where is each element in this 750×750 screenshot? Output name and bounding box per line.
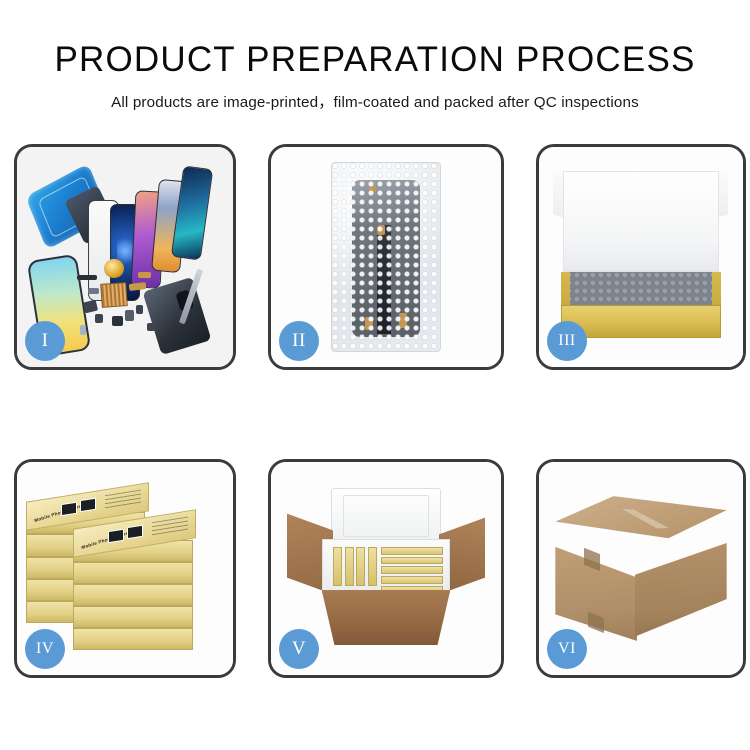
spare-part-icon <box>125 310 134 321</box>
step-panel-3: III <box>536 144 746 370</box>
step-badge-4: IV <box>25 629 65 669</box>
page-title: PRODUCT PREPARATION PROCESS <box>0 42 750 77</box>
speaker-coil-icon <box>104 259 123 278</box>
spare-part-icon <box>136 305 144 314</box>
step-panel-1: I <box>14 144 236 370</box>
step-panel-2: II <box>268 144 504 370</box>
page-subtitle: All products are image-printed，film-coat… <box>0 90 750 112</box>
step-panel-6: VI <box>536 459 746 678</box>
spare-part-icon <box>83 300 98 314</box>
spare-part-icon <box>80 325 86 335</box>
header: PRODUCT PREPARATION PROCESS All products… <box>0 0 750 112</box>
spare-part-icon <box>88 288 99 295</box>
box-spec-lines-icon <box>152 516 188 537</box>
step-badge-5: V <box>279 629 319 669</box>
box-window-icon <box>61 502 77 517</box>
retail-box-icon <box>368 547 377 585</box>
bubble-wrapped-contents-icon <box>566 272 717 307</box>
retail-box-icon <box>381 576 443 584</box>
stacked-box-icon <box>73 628 192 650</box>
spare-part-icon <box>147 323 156 331</box>
stacked-box-icon <box>73 562 192 584</box>
stacked-box-icon <box>73 606 192 628</box>
product-preparation-infographic: PRODUCT PREPARATION PROCESS All products… <box>0 0 750 750</box>
box-window-icon <box>80 497 96 512</box>
stacked-box-icon <box>73 584 192 606</box>
spare-part-icon <box>112 316 123 326</box>
bubble-wrap-bag-icon <box>331 162 441 351</box>
retail-box-icon <box>381 547 443 555</box>
step-panel-4: Mobile Phone Spare Parts Mobile Phone Sp… <box>14 459 236 678</box>
retail-box-icon <box>333 547 342 585</box>
step-badge-3: III <box>547 321 587 361</box>
step-badge-1: I <box>25 321 65 361</box>
carton-top-icon <box>555 496 726 560</box>
spare-part-icon <box>138 272 151 278</box>
step-panel-5: V <box>268 459 504 678</box>
retail-box-icon <box>345 547 354 585</box>
spare-part-icon <box>95 314 104 323</box>
bubble-texture-icon <box>332 163 440 350</box>
carton-face-right-icon <box>635 543 727 637</box>
step-badge-6: VI <box>547 629 587 669</box>
retail-box-icon <box>381 557 443 565</box>
box-window-icon <box>128 525 144 540</box>
process-steps-grid: I II <box>14 144 740 678</box>
box-lid-icon <box>563 171 718 272</box>
retail-box-icon <box>381 566 443 574</box>
styrofoam-lid-icon <box>331 488 441 546</box>
box-window-icon <box>108 529 124 544</box>
box-spec-lines-icon <box>104 489 140 510</box>
step-badge-2: II <box>279 321 319 361</box>
chip-grid-icon <box>100 283 128 309</box>
spare-part-icon <box>77 275 96 281</box>
phone-backplate-icon <box>142 277 211 355</box>
retail-box-icon <box>356 547 365 585</box>
carton-front-icon <box>322 590 451 645</box>
